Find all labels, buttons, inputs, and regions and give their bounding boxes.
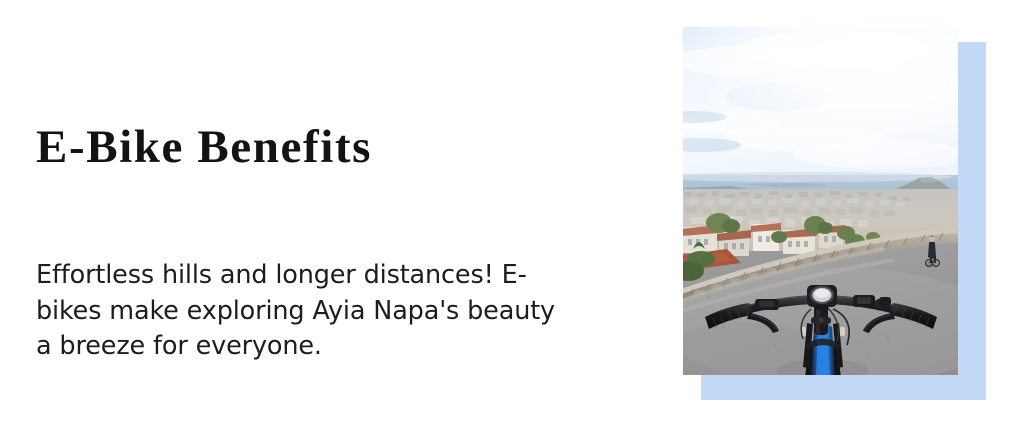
body-paragraph: Effortless hills and longer distances! E…	[36, 258, 571, 365]
photo-ebike-coastal-road	[683, 27, 958, 375]
photo-illustration	[683, 27, 958, 375]
text-column: E-Bike Benefits Effortless hills and lon…	[36, 0, 616, 446]
slide-canvas: E-Bike Benefits Effortless hills and lon…	[0, 0, 1024, 446]
bike-display	[807, 285, 837, 310]
page-title: E-Bike Benefits	[36, 121, 372, 173]
